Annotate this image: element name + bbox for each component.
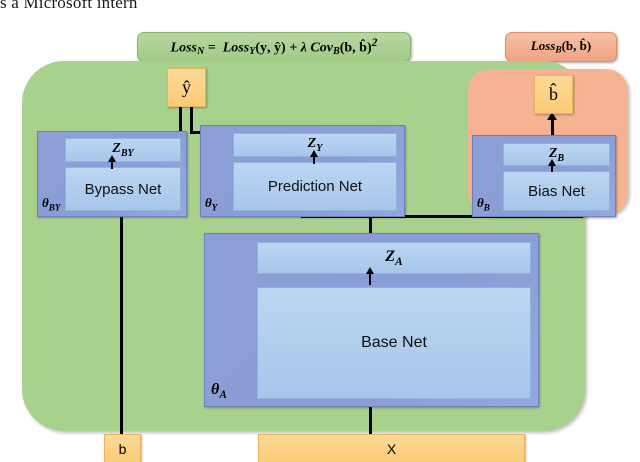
base-theta-label: θA <box>211 381 227 401</box>
input-x-label: X <box>387 441 396 457</box>
prediction-net-body: Prediction Net <box>233 162 397 211</box>
input-x-box[interactable]: X <box>258 434 525 462</box>
output-b-hat-label: b̂ <box>549 84 558 105</box>
wire-b-to-bypass <box>120 216 123 438</box>
output-y-hat-box[interactable]: ŷ <box>167 68 206 107</box>
module-bias-net[interactable]: θB ZB Bias Net <box>472 135 616 217</box>
bias-net-body: Bias Net <box>503 171 610 211</box>
arrowhead-prediction-internal <box>310 150 318 157</box>
bias-z-bar: ZB <box>503 143 610 166</box>
loss-network-banner: LossN = LossY(y, ŷ) + λ CovB(b, b̂)2 <box>137 32 411 62</box>
arrowhead-base-internal <box>366 267 374 274</box>
bypass-theta-label: θBY <box>42 195 60 213</box>
loss-network-formula: LossN = LossY(y, ŷ) + λ CovB(b, b̂)2 <box>171 36 378 57</box>
base-net-label: Base Net <box>361 334 427 352</box>
page-cutoff-text: s a Microsoft intern <box>0 0 138 13</box>
module-base-net[interactable]: θA ZA Base Net <box>204 233 539 407</box>
base-z-label: ZA <box>385 248 402 268</box>
input-b-box[interactable]: b <box>104 434 141 462</box>
input-b-label: b <box>119 441 127 457</box>
bypass-z-bar: ZBY <box>65 138 181 162</box>
arrowhead-bypass-internal <box>108 155 116 162</box>
arrowhead-bias-internal <box>548 159 556 166</box>
wire-za-stem <box>369 215 372 235</box>
output-y-hat-label: ŷ <box>182 77 191 98</box>
prediction-net-label: Prediction Net <box>268 178 362 195</box>
loss-bias-banner: LossB(b, b̂) <box>505 32 617 62</box>
module-prediction-net[interactable]: θY ZY Prediction Net <box>200 125 405 217</box>
bypass-net-body: Bypass Net <box>65 167 181 211</box>
bypass-net-label: Bypass Net <box>85 181 162 198</box>
bias-net-label: Bias Net <box>528 183 585 200</box>
wire-base-internal <box>369 273 371 285</box>
base-z-bar: ZA <box>257 242 531 274</box>
loss-bias-formula: LossB(b, b̂) <box>531 38 591 55</box>
base-net-body: Base Net <box>257 287 531 399</box>
bias-theta-label: θB <box>477 195 490 213</box>
wire-zy-to-yhat <box>190 106 193 133</box>
prediction-theta-label: θY <box>205 195 217 213</box>
output-b-hat-box[interactable]: b̂ <box>534 75 573 114</box>
module-bypass-net[interactable]: θBY ZBY Bypass Net <box>37 131 187 217</box>
wire-zby-to-yhat <box>179 106 182 133</box>
diagram-canvas: s a Microsoft intern LossN = LossY(y, ŷ)… <box>0 0 640 462</box>
